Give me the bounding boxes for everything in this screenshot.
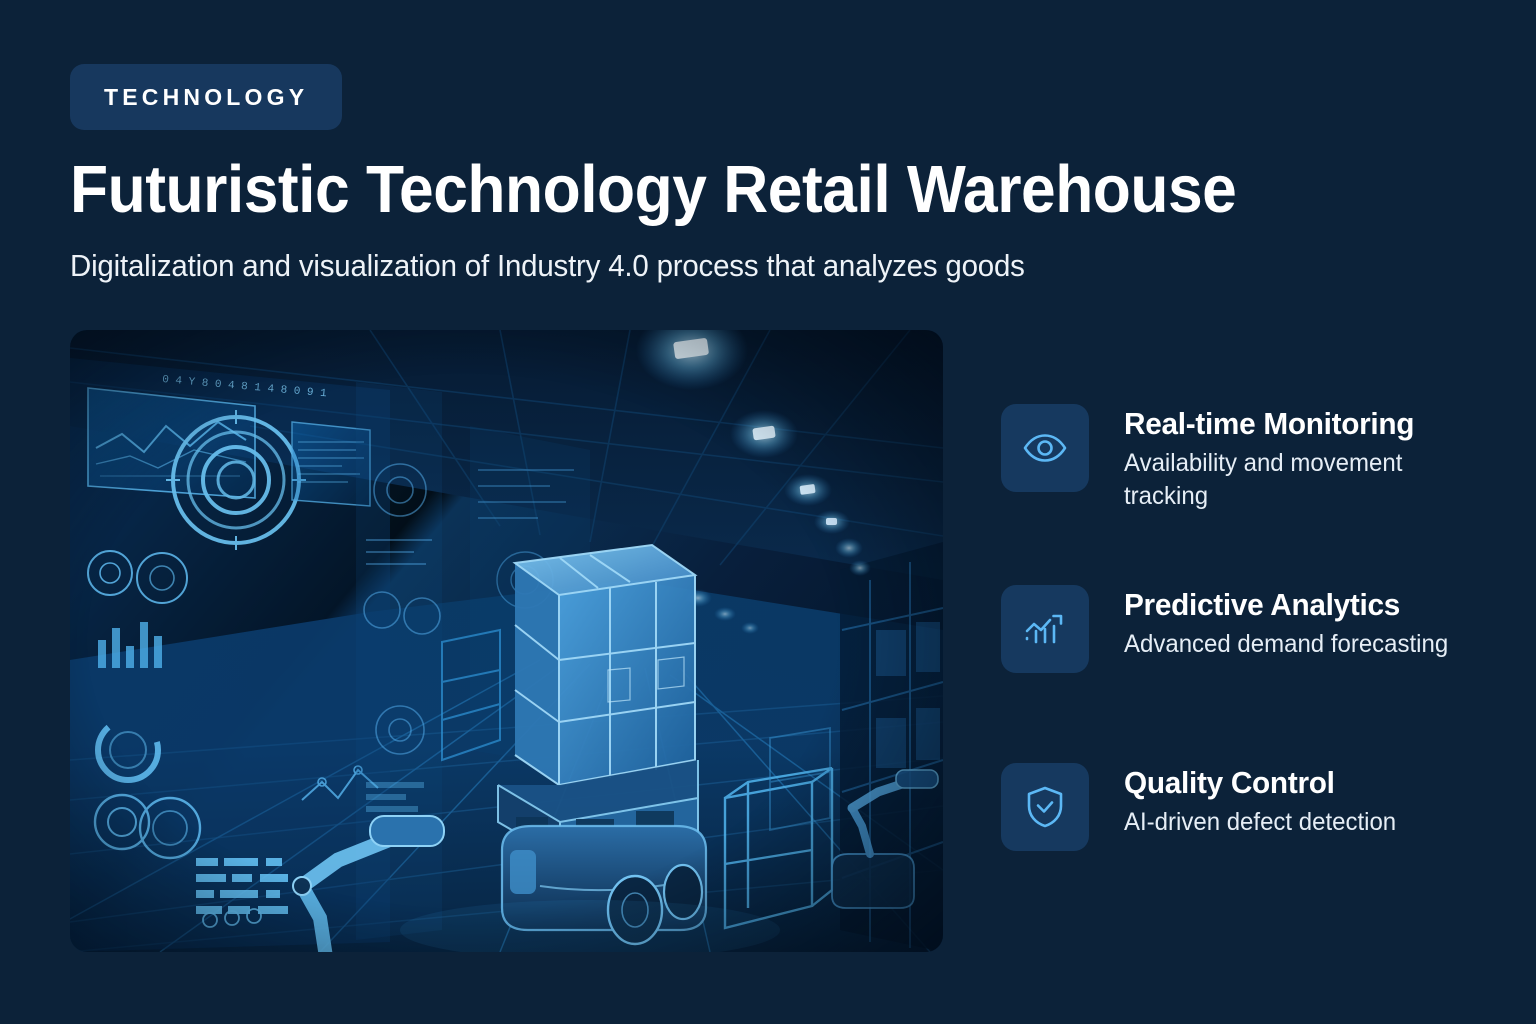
feature-item-quality-control[interactable]: Quality Control AI-driven defect detecti… bbox=[1001, 763, 1408, 851]
feature-text: Predictive Analytics Advanced demand for… bbox=[1124, 585, 1462, 673]
feature-desc: Advanced demand forecasting bbox=[1124, 628, 1448, 661]
category-badge-label: TECHNOLOGY bbox=[104, 84, 308, 111]
eye-icon bbox=[1001, 404, 1089, 492]
page-title: Futuristic Technology Retail Warehouse bbox=[70, 155, 1236, 225]
warehouse-photo: 0 4 Y 8 0 4 8 1 4 8 0 9 1 bbox=[70, 330, 943, 952]
feature-desc: AI-driven defect detection bbox=[1124, 806, 1396, 839]
feature-item-predictive-analytics[interactable]: Predictive Analytics Advanced demand for… bbox=[1001, 585, 1462, 673]
chart-trend-up-icon bbox=[1001, 585, 1089, 673]
feature-text: Real-time Monitoring Availability and mo… bbox=[1124, 404, 1479, 513]
page-subtitle: Digitalization and visualization of Indu… bbox=[70, 248, 1025, 284]
feature-item-real-time-monitoring[interactable]: Real-time Monitoring Availability and mo… bbox=[1001, 404, 1479, 513]
feature-title: Predictive Analytics bbox=[1124, 587, 1448, 623]
warehouse-illustration: 0 4 Y 8 0 4 8 1 4 8 0 9 1 bbox=[70, 330, 943, 952]
feature-title: Quality Control bbox=[1124, 765, 1396, 801]
feature-text: Quality Control AI-driven defect detecti… bbox=[1124, 763, 1408, 851]
feature-desc: Availability and movement tracking bbox=[1124, 447, 1465, 513]
feature-title: Real-time Monitoring bbox=[1124, 406, 1465, 442]
category-badge: TECHNOLOGY bbox=[70, 64, 342, 130]
shield-check-icon bbox=[1001, 763, 1089, 851]
